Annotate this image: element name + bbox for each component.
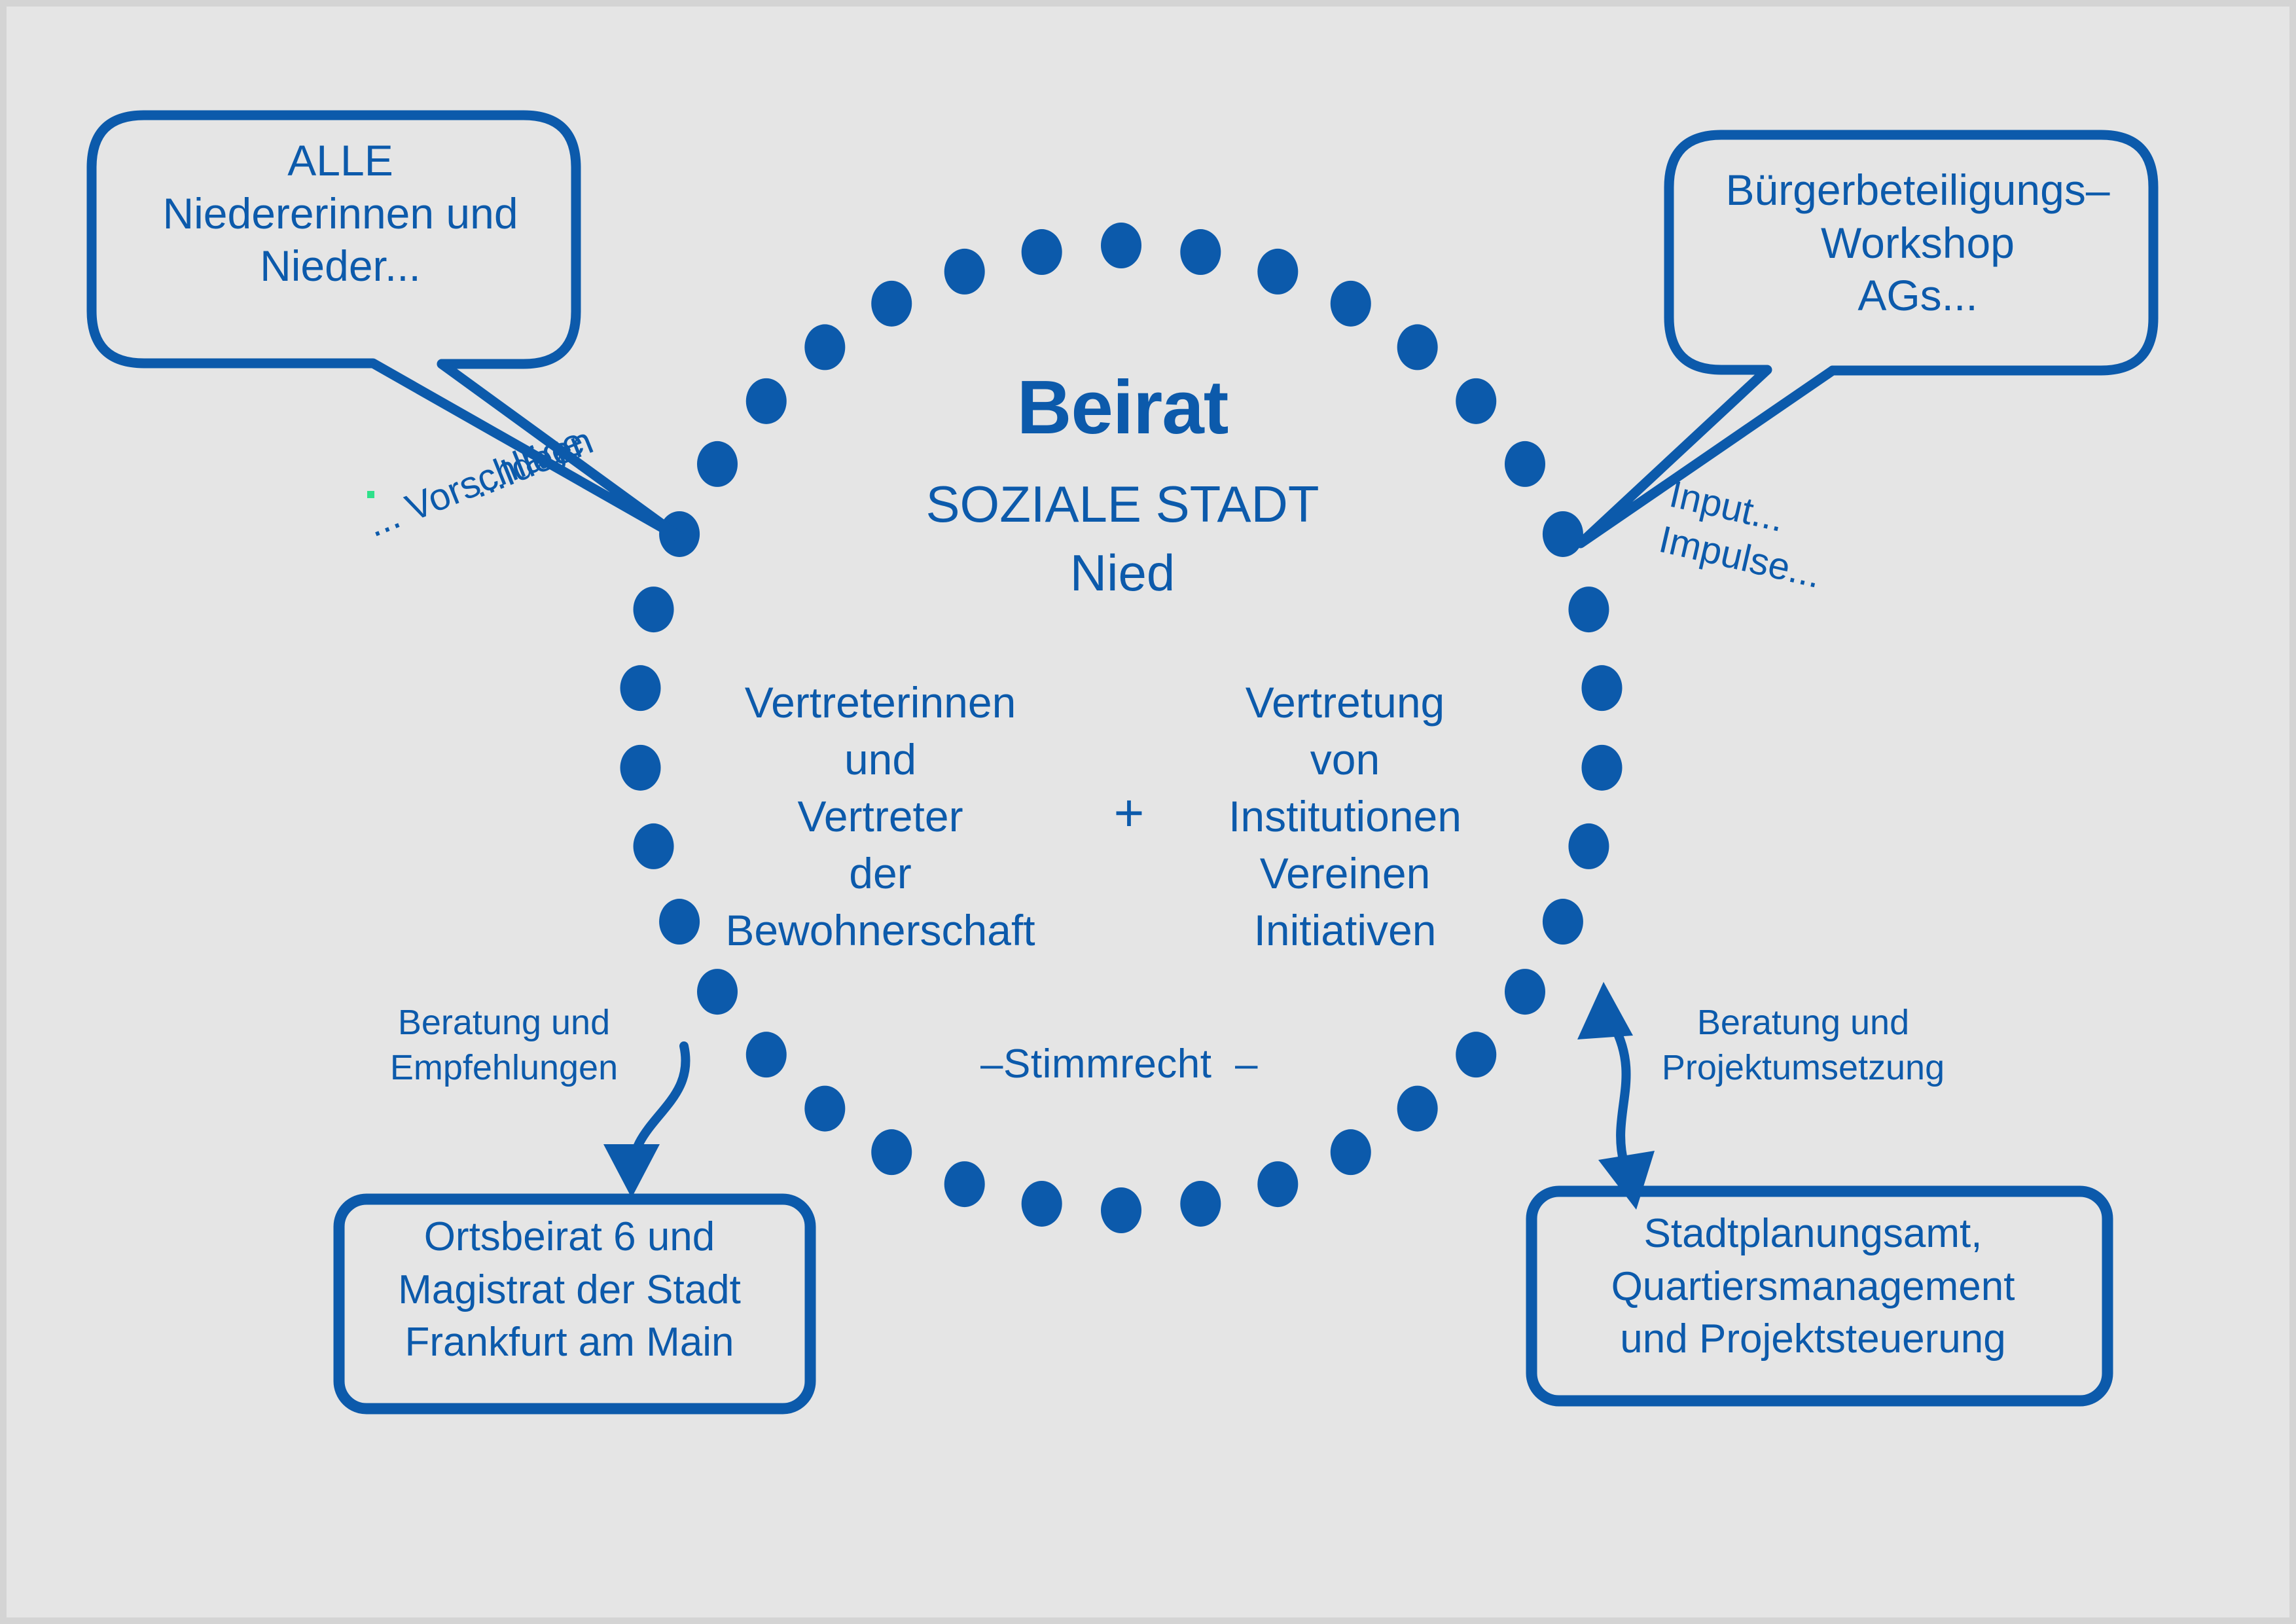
box-ortsbeirat-label: Ortsbeirat 6 und Magistrat der Stadt Fra… [340,1211,798,1369]
circle-dot [1101,223,1141,268]
circle-dot [1505,441,1545,487]
circle-dot [1022,229,1062,275]
green-marker-icon [367,491,374,498]
circle-dot [697,441,738,487]
circle-footer-stimmrecht: –Stimmrecht – [942,1041,1296,1089]
circle-dot [1022,1181,1062,1227]
circle-dot [944,249,985,295]
circle-title: Beirat [844,363,1401,452]
circle-dot [1456,1032,1496,1077]
diagram-canvas: {} ALLE Niedererinnen und Nieder... [0,0,2296,1624]
circle-dot [1505,969,1545,1015]
circle-subtitle-line1: SOZIALE STADT [844,475,1401,534]
circle-dot [944,1161,985,1207]
circle-dot [1397,324,1438,370]
circle-dot [746,378,787,424]
circle-column-institutions: Vertretung von Institutionen Vereinen In… [1208,674,1482,960]
circle-dot [659,899,700,945]
arrow-beratung-projektumsetzung [1577,982,1655,1210]
circle-dot [1257,1161,1298,1207]
circle-dot [1581,665,1622,711]
circle-dot [620,745,661,791]
circle-subtitle-line2: Nied [844,543,1401,603]
circle-dot [1543,511,1583,557]
circle-column-residents: Vertreterinnen und Vertreter der Bewohne… [717,674,1044,960]
circle-dot [804,324,845,370]
circle-dot [620,665,661,711]
circle-dot [804,1086,845,1132]
circle-dot [1568,823,1609,869]
plus-icon: + [1090,782,1168,844]
circle-dot [871,281,912,327]
annotation-beratung-empfehlungen: Beratung und Empfehlungen [373,1000,635,1091]
annotation-beratung-projektumsetzung: Beratung und Projektumsetzung [1649,1000,1957,1091]
circle-dot [1543,899,1583,945]
circle-dot [871,1129,912,1175]
speech-bubble-residents-label: ALLE Niedererinnen und Nieder... [105,134,576,293]
circle-dot [1568,586,1609,632]
circle-dot [1180,229,1221,275]
circle-dot [746,1032,787,1077]
circle-dot [634,586,674,632]
circle-dot [1101,1187,1141,1233]
circle-dot [1331,281,1371,327]
circle-dot [1581,745,1622,791]
circle-dot [1331,1129,1371,1175]
circle-dot [1456,378,1496,424]
circle-dot [1180,1181,1221,1227]
circle-dot [634,823,674,869]
circle-dot [697,969,738,1015]
circle-dot [1397,1086,1438,1132]
box-stadtplanungsamt-label: Stadtplanungsamt, Quartiersmanagement un… [1532,1208,2094,1366]
speech-bubble-participation-label: Bürgerbeteiligungs– Workshop AGs... [1682,164,2153,322]
circle-dot [1257,249,1298,295]
